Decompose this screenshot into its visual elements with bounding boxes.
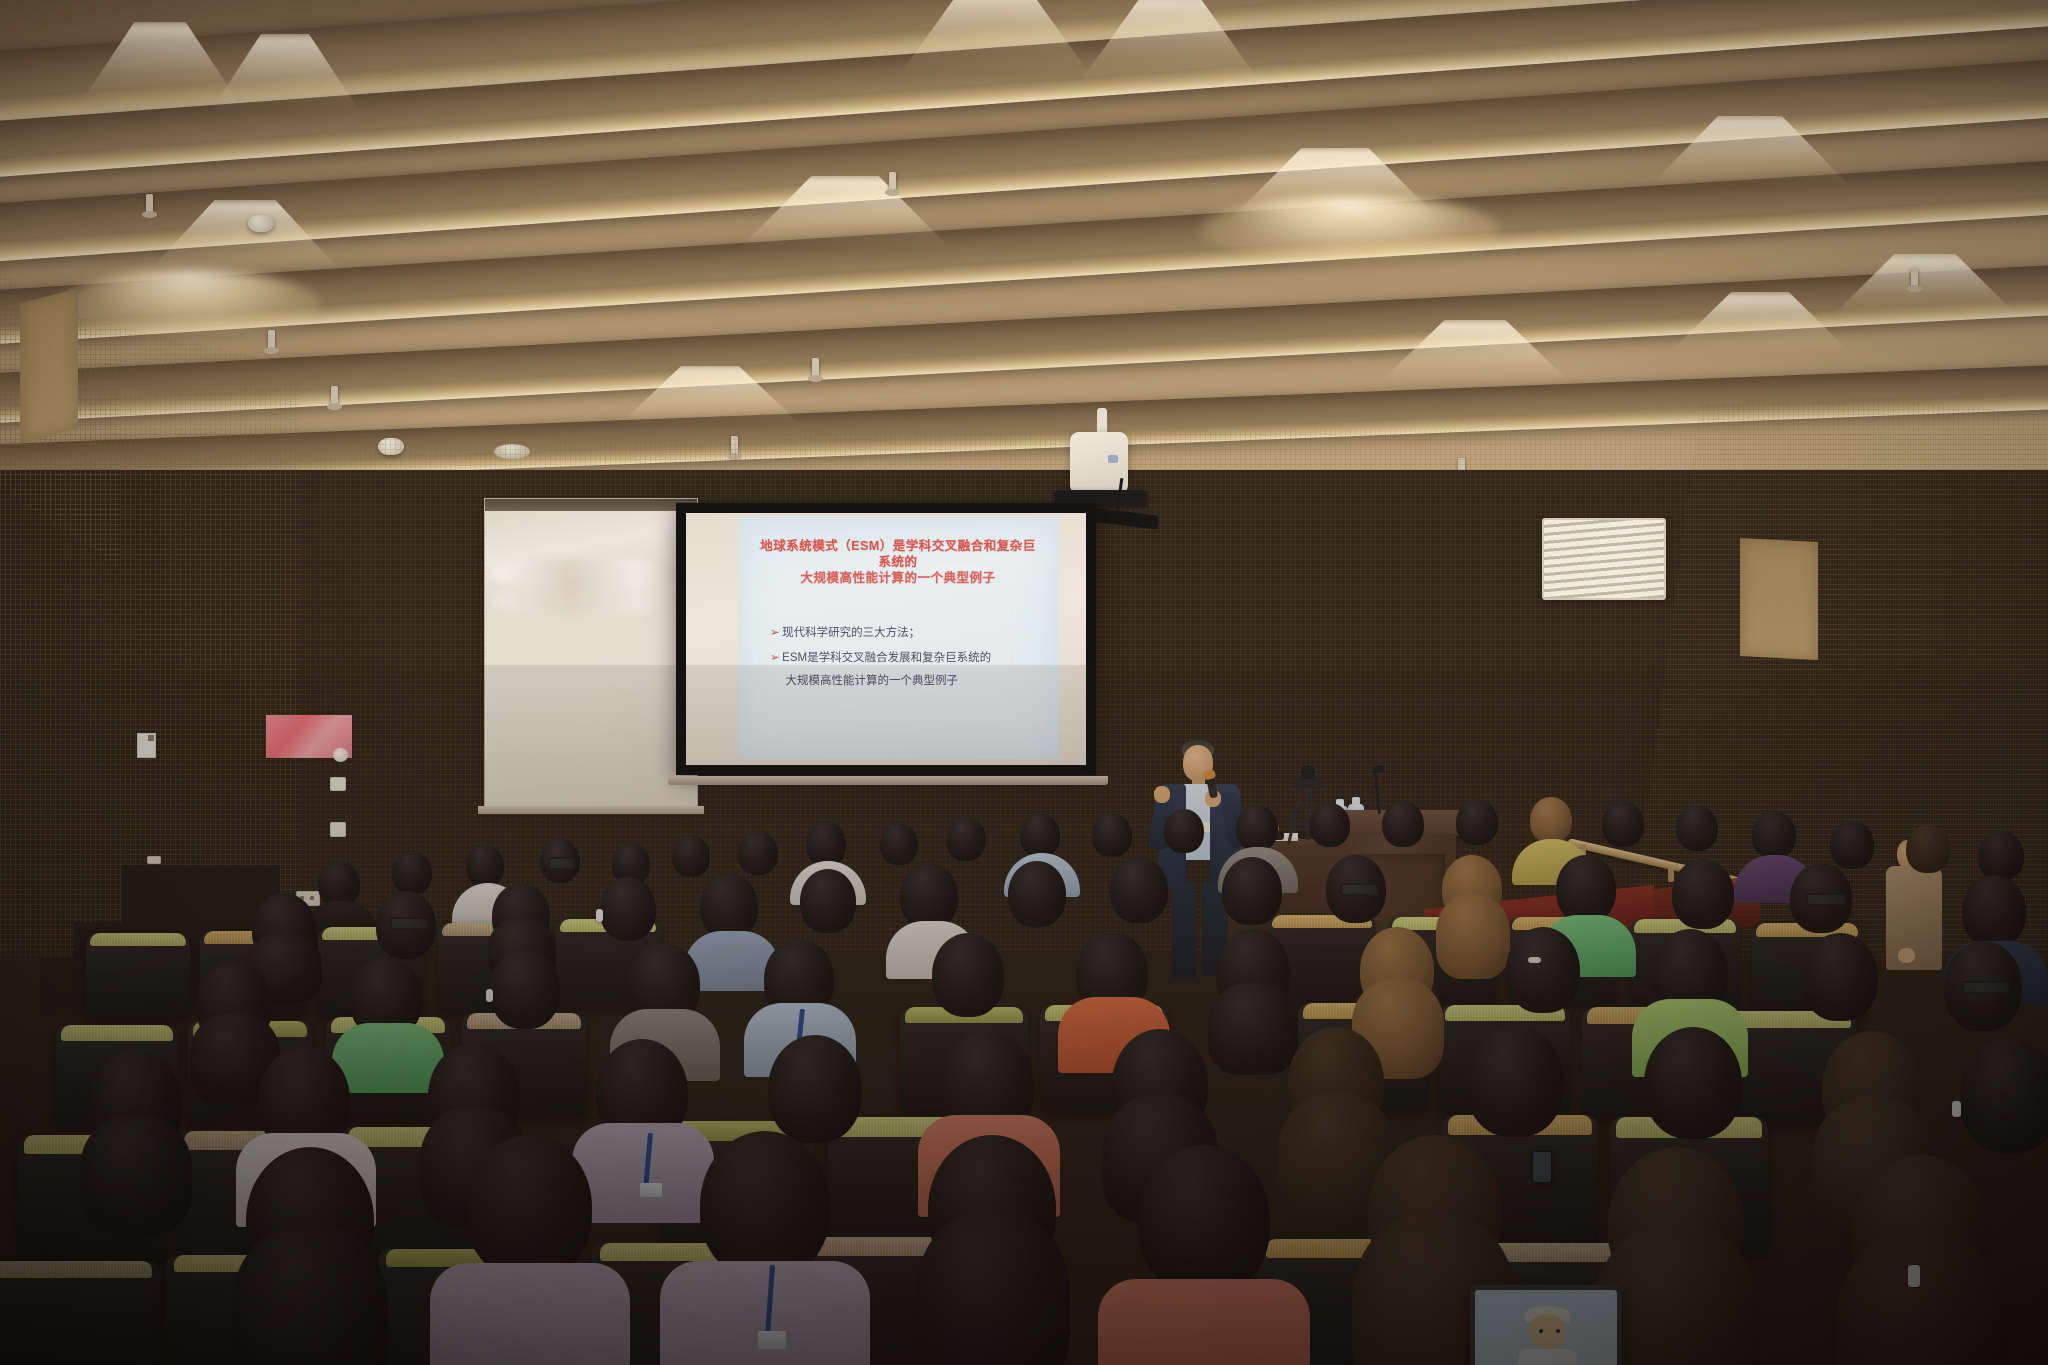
audience-shoulders: [430, 1263, 630, 1365]
audience-head: [700, 873, 758, 939]
audience-head: [900, 863, 958, 929]
earbud-icon: [1908, 1265, 1920, 1287]
audience-shoulders: [1098, 1279, 1310, 1365]
audience-head: [1020, 813, 1060, 857]
audience-head: [1672, 859, 1734, 929]
sprinkler-icon: [812, 358, 819, 378]
glasses-icon: [390, 917, 428, 930]
audience-area: [0, 665, 2048, 1365]
glasses-icon: [548, 857, 576, 870]
glasses-icon: [1962, 981, 2010, 994]
audience-shoulders: [660, 1261, 870, 1365]
smoke-detector-icon: [248, 215, 274, 232]
audience-head: [1236, 805, 1278, 851]
sprinkler-icon: [1911, 268, 1918, 288]
audience-head: [1310, 803, 1350, 847]
auditorium-seat[interactable]: [86, 933, 190, 1019]
audience-head: [1092, 813, 1132, 857]
audience-head: [1906, 825, 1950, 873]
audience-head: [1222, 857, 1282, 925]
audience-head: [1138, 1145, 1270, 1295]
audience-phone[interactable]: [1532, 1151, 1552, 1183]
sprinkler-icon: [146, 194, 153, 214]
id-badge: [640, 1183, 662, 1197]
acoustic-panel: [20, 288, 78, 444]
glasses-icon: [1806, 893, 1846, 906]
audience-head: [1830, 821, 1874, 869]
hvac-vent: [1542, 518, 1666, 600]
bullet-text: 现代科学研究的三大方法；: [782, 625, 920, 642]
audience-head: [1962, 875, 2026, 947]
audience-head: [1752, 811, 1796, 859]
audience-head: [1466, 1025, 1564, 1137]
audience-hair: [80, 1115, 192, 1235]
audience-head: [880, 823, 918, 865]
earbud-icon: [596, 909, 603, 922]
audience-head: [1802, 933, 1878, 1021]
audience-head: [466, 1135, 592, 1279]
audience-head: [1008, 861, 1066, 927]
hair-clip: [1528, 957, 1541, 963]
audience-head: [738, 831, 778, 875]
audience-head: [1602, 801, 1644, 847]
audience-head: [1382, 801, 1424, 847]
audience-head: [1644, 1027, 1742, 1139]
audience-head: [1978, 831, 2024, 881]
audience-head: [490, 949, 560, 1029]
audience-shoulders: [332, 1023, 444, 1093]
audience-head: [672, 835, 710, 877]
lecture-hall-photo: 地球系统模式（ESM）是学科交叉融合和复杂巨 系统的 大规模高性能计算的一个典型…: [0, 0, 2048, 1365]
audience-hair: [916, 1211, 1070, 1365]
sprinkler-icon: [889, 172, 896, 192]
earbud-icon: [486, 989, 493, 1002]
audience-head: [768, 1035, 862, 1143]
audience-shoulders: [572, 1123, 714, 1223]
audience-head: [700, 1131, 830, 1279]
earbud-icon: [1952, 1101, 1961, 1117]
acoustic-panel: [1740, 538, 1818, 660]
bullet-arrow-icon: ➢: [770, 625, 780, 642]
audience-head: [466, 845, 504, 887]
slide-bullet: ➢ 现代科学研究的三大方法；: [770, 625, 1039, 642]
audience-head: [392, 851, 432, 895]
audience-tablet[interactable]: [1470, 1285, 1622, 1365]
audience-head: [946, 817, 986, 861]
projector-pole: [1097, 408, 1107, 434]
sprinkler-icon: [268, 330, 275, 350]
audience-head: [1676, 805, 1718, 851]
glasses-icon: [1340, 883, 1378, 896]
audience-hair: [1436, 895, 1510, 979]
audience-head: [1506, 927, 1580, 1013]
id-badge: [758, 1331, 786, 1349]
audience-hair: [232, 1225, 388, 1365]
audience-head: [1110, 857, 1168, 923]
slide-title: 地球系统模式（ESM）是学科交叉融合和复杂巨 系统的 大规模高性能计算的一个典型…: [751, 538, 1045, 586]
audience-head: [1530, 797, 1572, 843]
audience-head: [1456, 799, 1498, 845]
audience-head: [800, 869, 856, 933]
audience-hair: [1208, 983, 1298, 1075]
projector-lens-icon: [1108, 455, 1118, 463]
auditorium-seat[interactable]: [0, 1261, 160, 1365]
sprinkler-icon: [331, 386, 338, 406]
audience-head: [1556, 855, 1616, 923]
audience-head: [1960, 1039, 2048, 1153]
audience-head: [932, 933, 1004, 1017]
audience-head: [600, 877, 656, 941]
audience-head: [1164, 809, 1204, 853]
